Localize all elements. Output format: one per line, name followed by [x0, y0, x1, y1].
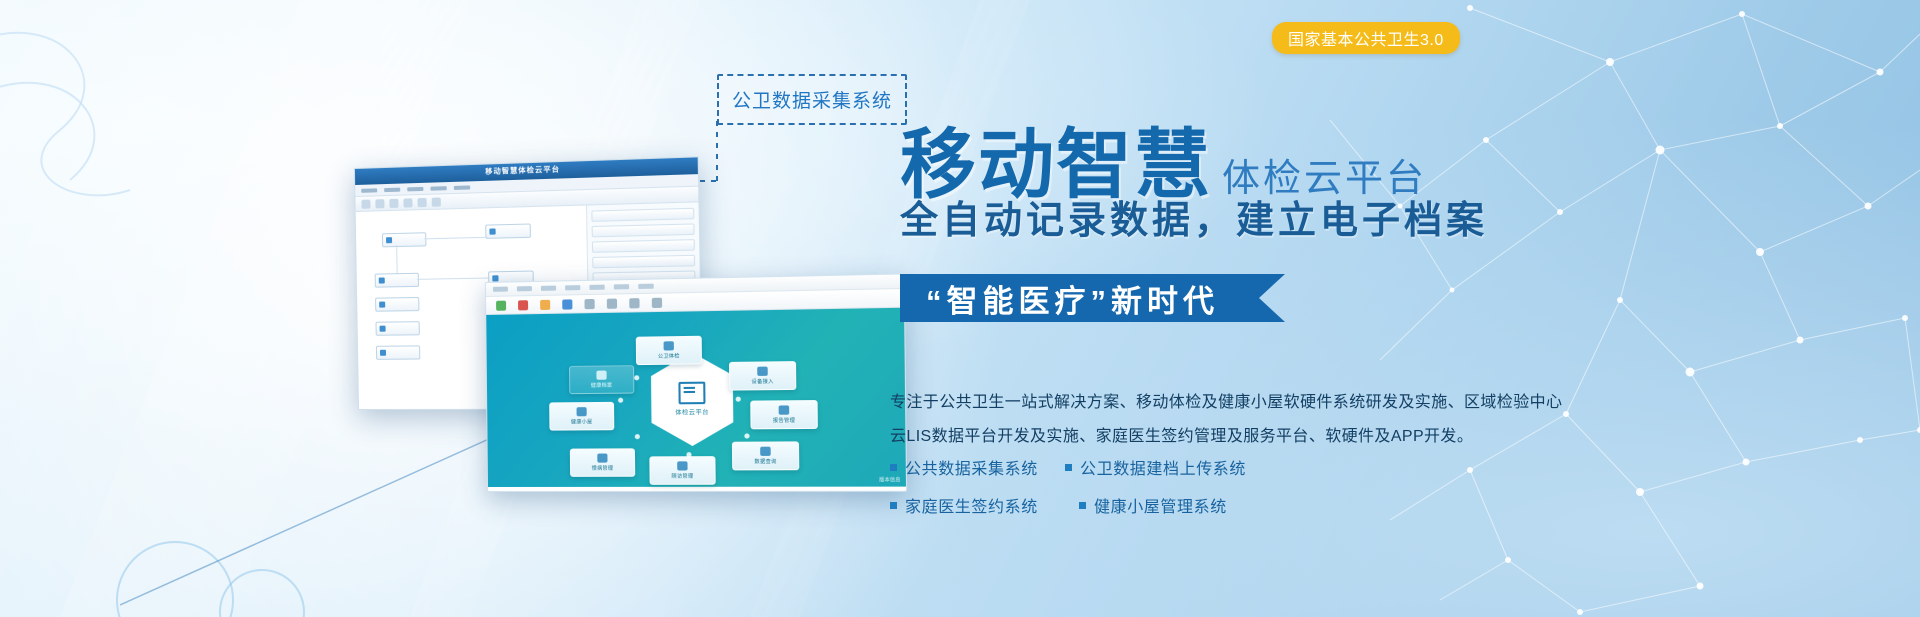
node-connector-dot [686, 375, 691, 380]
toolbar-icon-red[interactable] [518, 300, 528, 310]
menu-item-icon[interactable] [614, 284, 629, 289]
menu-item-icon[interactable] [638, 284, 653, 289]
hub-label: 体检云平台 [675, 407, 709, 416]
node-label: 随访管理 [672, 473, 694, 480]
dashboard-node[interactable]: 健康小屋 [549, 402, 614, 431]
node-connector-dot [744, 433, 749, 438]
toolbar-button-icon[interactable] [417, 197, 426, 206]
list-item[interactable]: 健康小屋管理系统 [1065, 493, 1339, 517]
node-icon [760, 447, 771, 456]
node-label: 公卫体检 [658, 352, 680, 359]
node-icon [576, 407, 586, 416]
description-line: 云LIS数据平台开发及实施、家庭医生签约管理及服务平台、软硬件及APP开发。 [890, 426, 1610, 448]
description-line: 专注于公共卫生一站式解决方案、移动体检及健康小屋软硬件系统研发及实施、区域检验中… [890, 392, 1610, 414]
dashboard-node[interactable]: 报告管理 [750, 400, 818, 429]
node-icon [677, 461, 687, 470]
list-item-label: 家庭医生签约系统 [905, 493, 1038, 517]
node-icon [757, 367, 768, 376]
bullet-square-icon [1065, 464, 1072, 471]
list-item[interactable]: 公共数据采集系统 [890, 455, 1065, 479]
canvas-link [417, 278, 488, 280]
headline-line2: 全自动记录数据，建立电子档案 [900, 198, 1488, 244]
front-window-dashboard: 体检云平台 公卫体检 设备接入 报告管理 数据查询 随访管理 [486, 308, 906, 487]
menu-item-icon[interactable] [407, 186, 423, 191]
callout-leader-line [716, 121, 718, 181]
dashboard-node[interactable]: 公卫体检 [636, 336, 702, 365]
node-label: 健康档案 [591, 382, 613, 389]
menu-item-icon[interactable] [541, 286, 556, 291]
canvas-node-icon[interactable] [485, 223, 531, 238]
headline-row: 移动智慧 体检云平台 [900, 128, 1427, 204]
side-row[interactable] [591, 208, 694, 222]
node-connector-dot [634, 375, 639, 380]
menu-item-icon[interactable] [430, 186, 446, 191]
banner-root: 公卫数据采集系统 移动智慧体检云平台 [0, 0, 1920, 617]
node-icon [664, 341, 674, 350]
menu-item-icon[interactable] [565, 285, 580, 290]
hub-hexagon: 体检云平台 [644, 352, 740, 447]
toolbar-icon-orange[interactable] [540, 299, 550, 309]
headline-sub: 体检云平台 [1222, 158, 1427, 200]
bullet-square-icon [890, 502, 897, 509]
toolbar-icon-grey[interactable] [607, 298, 617, 308]
menu-item-icon[interactable] [384, 187, 400, 192]
side-row[interactable] [592, 223, 695, 237]
ribbon-banner: “智能医疗”新时代 [900, 274, 1259, 322]
list-item-label: 公卫数据建档上传系统 [1080, 455, 1246, 479]
node-label: 数据查询 [754, 458, 776, 465]
callout-box: 公卫数据采集系统 [717, 74, 907, 125]
callout-label: 公卫数据采集系统 [732, 86, 892, 113]
node-connector-dot [618, 398, 623, 403]
node-icon [779, 405, 790, 414]
list-item[interactable]: 家庭医生签约系统 [890, 493, 1065, 517]
description-block: 专注于公共卫生一站式解决方案、移动体检及健康小屋软硬件系统研发及实施、区域检验中… [890, 392, 1610, 460]
node-icon [597, 454, 607, 463]
node-label: 设备接入 [751, 378, 773, 385]
node-connector-dot [736, 397, 741, 402]
node-label: 报告管理 [773, 417, 795, 424]
side-row[interactable] [592, 239, 695, 253]
bullet-square-icon [890, 464, 897, 471]
ribbon-label: “智能医疗”新时代 [926, 276, 1219, 321]
dashboard-node[interactable]: 慢病管理 [570, 448, 635, 477]
canvas-link [396, 245, 397, 273]
menu-item-icon[interactable] [517, 286, 532, 291]
toolbar-button-icon[interactable] [361, 199, 370, 208]
node-label: 健康小屋 [571, 418, 593, 425]
feature-row: 家庭医生签约系统 健康小屋管理系统 [890, 493, 1450, 517]
node-icon [596, 371, 606, 380]
copy-block: 移动智慧 体检云平台 国家基本公共卫生3.0 全自动记录数据，建立电子档案 “智… [900, 0, 1900, 617]
toolbar-icon-grey[interactable] [584, 298, 594, 308]
canvas-node-icon[interactable] [382, 232, 426, 247]
headline-main: 移动智慧 [900, 128, 1212, 204]
canvas-link [424, 237, 487, 240]
status-badge: 国家基本公共卫生3.0 [1272, 22, 1460, 54]
list-item-label: 健康小屋管理系统 [1094, 493, 1227, 517]
window-mockup-front: 体检云平台 公卫体检 设备接入 报告管理 数据查询 随访管理 [485, 273, 907, 492]
toolbar-icon-grey[interactable] [629, 298, 639, 308]
list-item-label: 公共数据采集系统 [905, 455, 1038, 479]
dashboard-node[interactable]: 数据查询 [732, 441, 799, 470]
canvas-node-icon[interactable] [375, 273, 419, 288]
toolbar-icon-green[interactable] [496, 300, 506, 310]
canvas-node-icon[interactable] [375, 297, 419, 312]
menu-item-icon[interactable] [361, 188, 377, 193]
dashboard-node[interactable]: 设备接入 [729, 361, 796, 390]
menu-item-icon[interactable] [589, 285, 604, 290]
dashboard-node[interactable]: 健康档案 [569, 365, 634, 394]
dashboard-node[interactable]: 随访管理 [649, 456, 715, 485]
feature-list: 公共数据采集系统 公卫数据建档上传系统 家庭医生签约系统 健康小屋管理系统 [890, 455, 1450, 531]
canvas-node-icon[interactable] [376, 345, 420, 359]
toolbar-button-icon[interactable] [432, 197, 441, 206]
bullet-square-icon [1079, 502, 1086, 509]
node-label: 慢病管理 [592, 465, 614, 472]
toolbar-icon-grey[interactable] [652, 297, 662, 307]
node-connector-dot [686, 452, 691, 457]
list-item[interactable]: 公卫数据建档上传系统 [1065, 455, 1325, 479]
toolbar-button-icon[interactable] [403, 198, 412, 207]
toolbar-icon-blue[interactable] [562, 299, 572, 309]
report-search-icon [678, 382, 705, 405]
canvas-node-icon[interactable] [375, 321, 419, 336]
toolbar-button-icon[interactable] [389, 198, 398, 207]
menu-item-icon[interactable] [493, 287, 508, 292]
side-row[interactable] [592, 255, 695, 269]
node-connector-dot [635, 434, 640, 439]
feature-row: 公共数据采集系统 公卫数据建档上传系统 [890, 455, 1450, 479]
toolbar-button-icon[interactable] [375, 199, 384, 208]
menu-item-icon[interactable] [454, 185, 470, 190]
